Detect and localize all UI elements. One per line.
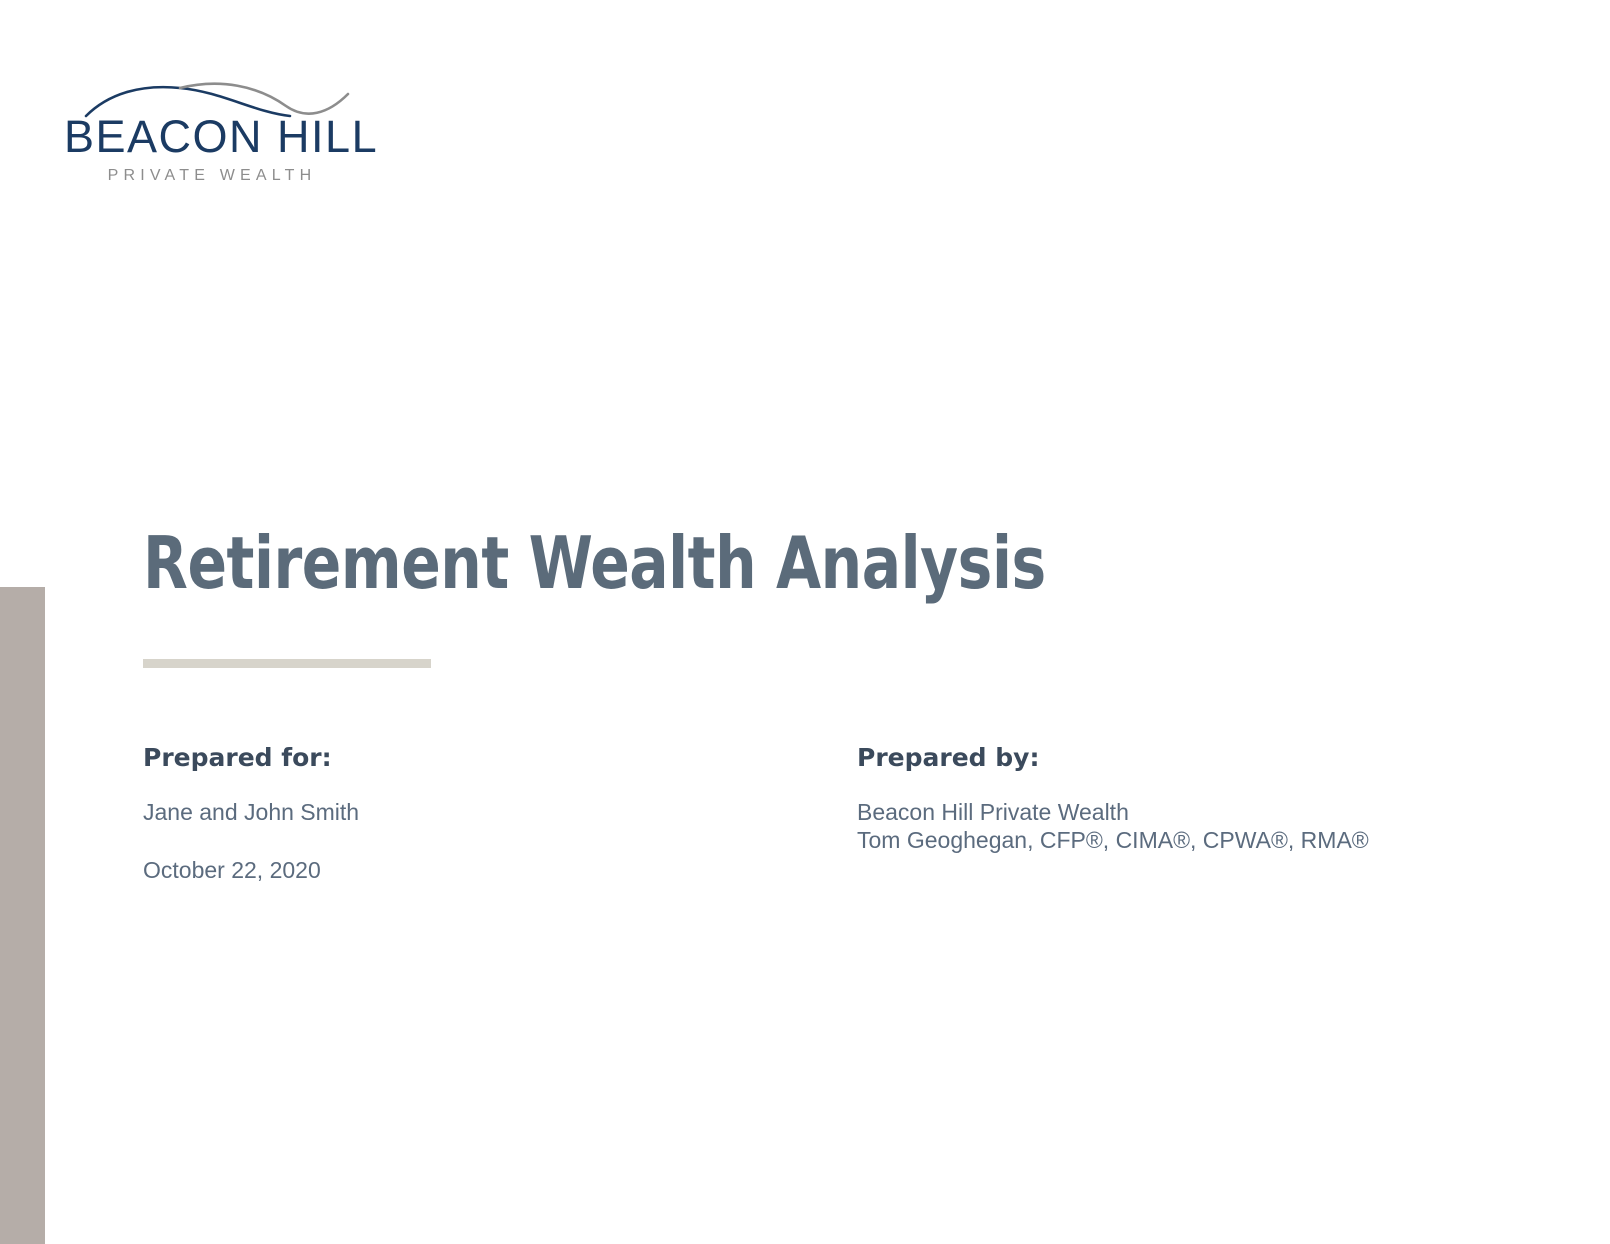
firm-name: Beacon Hill Private Wealth	[857, 798, 1537, 826]
prepared-by-block: Prepared by: Beacon Hill Private Wealth …	[857, 744, 1537, 854]
prepared-for-block: Prepared for: Jane and John Smith Octobe…	[143, 744, 743, 884]
prepared-for-heading: Prepared for:	[143, 744, 743, 772]
company-logo: BEACON HILL PRIVATE WEALTH	[62, 72, 362, 192]
client-name: Jane and John Smith	[143, 798, 743, 826]
logo-tagline: PRIVATE WEALTH	[64, 168, 360, 184]
left-edge-accent-bar	[0, 587, 45, 1244]
report-date: October 22, 2020	[143, 856, 743, 884]
page-title: Retirement Wealth Analysis	[143, 527, 1046, 599]
logo-wordmark: BEACON HILL	[64, 114, 360, 159]
cover-page: BEACON HILL PRIVATE WEALTH Retirement We…	[0, 0, 1610, 1244]
advisor-name: Tom Geoghegan, CFP®, CIMA®, CPWA®, RMA®	[857, 826, 1537, 854]
title-divider-rule	[143, 659, 431, 668]
prepared-by-heading: Prepared by:	[857, 744, 1537, 772]
